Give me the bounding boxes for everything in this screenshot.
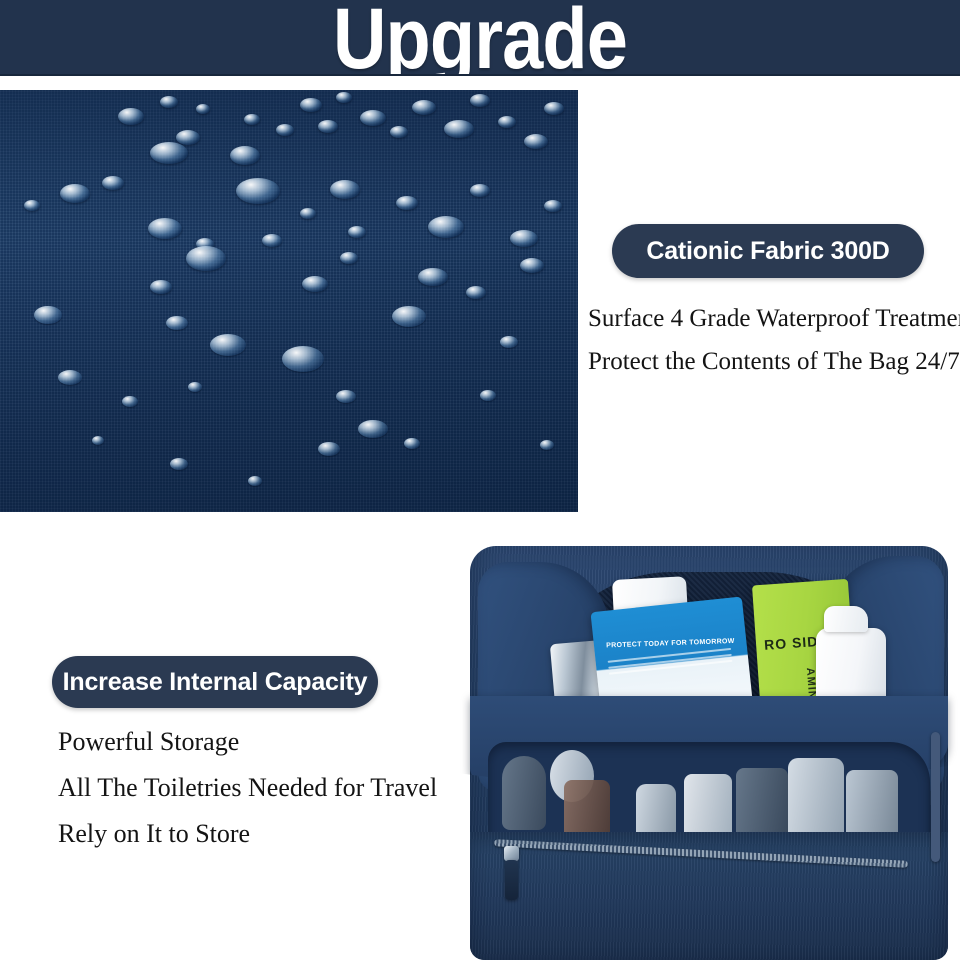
water-droplet (236, 178, 280, 204)
water-droplet (470, 94, 490, 107)
side-zipper[interactable] (931, 732, 940, 862)
water-droplet (300, 208, 316, 219)
water-droplet (348, 226, 366, 238)
zipper-tab[interactable] (505, 860, 518, 900)
water-droplet (210, 334, 246, 356)
water-droplet (150, 142, 188, 164)
toiletry-bag-photo: PROTECT TODAY FOR TOMORROW RO SID AMINOA… (460, 528, 960, 960)
water-droplet (276, 124, 294, 136)
blue-box-label: PROTECT TODAY FOR TOMORROW (606, 638, 735, 649)
water-droplet (60, 184, 90, 203)
water-droplet (318, 120, 338, 133)
water-droplet (340, 252, 358, 264)
water-droplet (92, 436, 104, 445)
water-droplet (148, 218, 182, 239)
water-droplet (34, 306, 62, 324)
water-droplet (360, 110, 386, 126)
water-droplet (262, 234, 282, 247)
cationic-fabric-description: Surface 4 Grade Waterproof Treatment Pro… (588, 305, 960, 391)
water-droplet (510, 230, 538, 247)
water-droplet (244, 114, 260, 125)
water-droplet (336, 390, 356, 403)
water-droplet (300, 98, 322, 112)
zipper-pull-icon[interactable] (504, 846, 519, 861)
water-droplet (188, 382, 202, 392)
waterproof-fabric-photo (0, 90, 578, 512)
feature-line: Powerful Storage (58, 727, 437, 757)
water-droplet (330, 180, 360, 199)
water-droplet (396, 196, 418, 210)
water-droplet (444, 120, 474, 138)
badge-cationic-fabric: Cationic Fabric 300D (612, 224, 924, 278)
feature-line: All The Toiletries Needed for Travel (58, 773, 437, 803)
water-droplet (336, 92, 352, 103)
blue-box-subtext (608, 648, 733, 679)
water-droplet (122, 396, 138, 407)
water-droplet (248, 476, 262, 486)
feature-line: Protect the Contents of The Bag 24/7 (588, 348, 960, 376)
water-droplet (498, 116, 516, 128)
badge-increase-internal-capacity: Increase Internal Capacity (52, 656, 378, 708)
feature-line: Rely on It to Store (58, 819, 437, 849)
mesh-pocket-item (502, 756, 546, 830)
page-title: Upgrade (67, 0, 893, 76)
water-droplet (196, 104, 210, 114)
water-droplet (102, 176, 124, 190)
water-droplet (544, 102, 564, 115)
water-droplet (358, 420, 388, 438)
water-droplet (520, 258, 544, 273)
water-droplet (318, 442, 340, 456)
water-droplet (58, 370, 82, 385)
green-box-brand: RO SID (764, 633, 819, 653)
water-droplet (524, 134, 548, 149)
water-droplet (170, 458, 188, 470)
water-droplet (302, 276, 328, 292)
water-droplet (24, 200, 40, 211)
feature-line: Surface 4 Grade Waterproof Treatment (588, 305, 960, 333)
internal-capacity-description: Powerful Storage All The Toiletries Need… (58, 727, 437, 865)
water-droplet (470, 184, 490, 197)
water-droplet (150, 280, 172, 294)
water-droplet (160, 96, 178, 108)
water-droplet (500, 336, 518, 348)
water-droplet (392, 306, 426, 327)
water-droplet (118, 108, 144, 125)
water-droplet (282, 346, 324, 372)
water-droplet (480, 390, 496, 401)
water-droplet (418, 268, 448, 286)
water-droplet (404, 438, 420, 449)
water-droplet (176, 130, 200, 145)
water-droplet (166, 316, 188, 330)
header-banner: Upgrade (0, 0, 960, 76)
water-droplet (390, 126, 408, 138)
water-droplet (428, 216, 464, 238)
bag-body: PROTECT TODAY FOR TOMORROW RO SID AMINOA… (470, 546, 948, 960)
water-droplet (230, 146, 260, 165)
water-droplet (186, 246, 226, 271)
water-droplet (412, 100, 436, 115)
water-droplet (466, 286, 486, 299)
water-droplet (540, 440, 554, 450)
water-droplet (544, 200, 562, 212)
